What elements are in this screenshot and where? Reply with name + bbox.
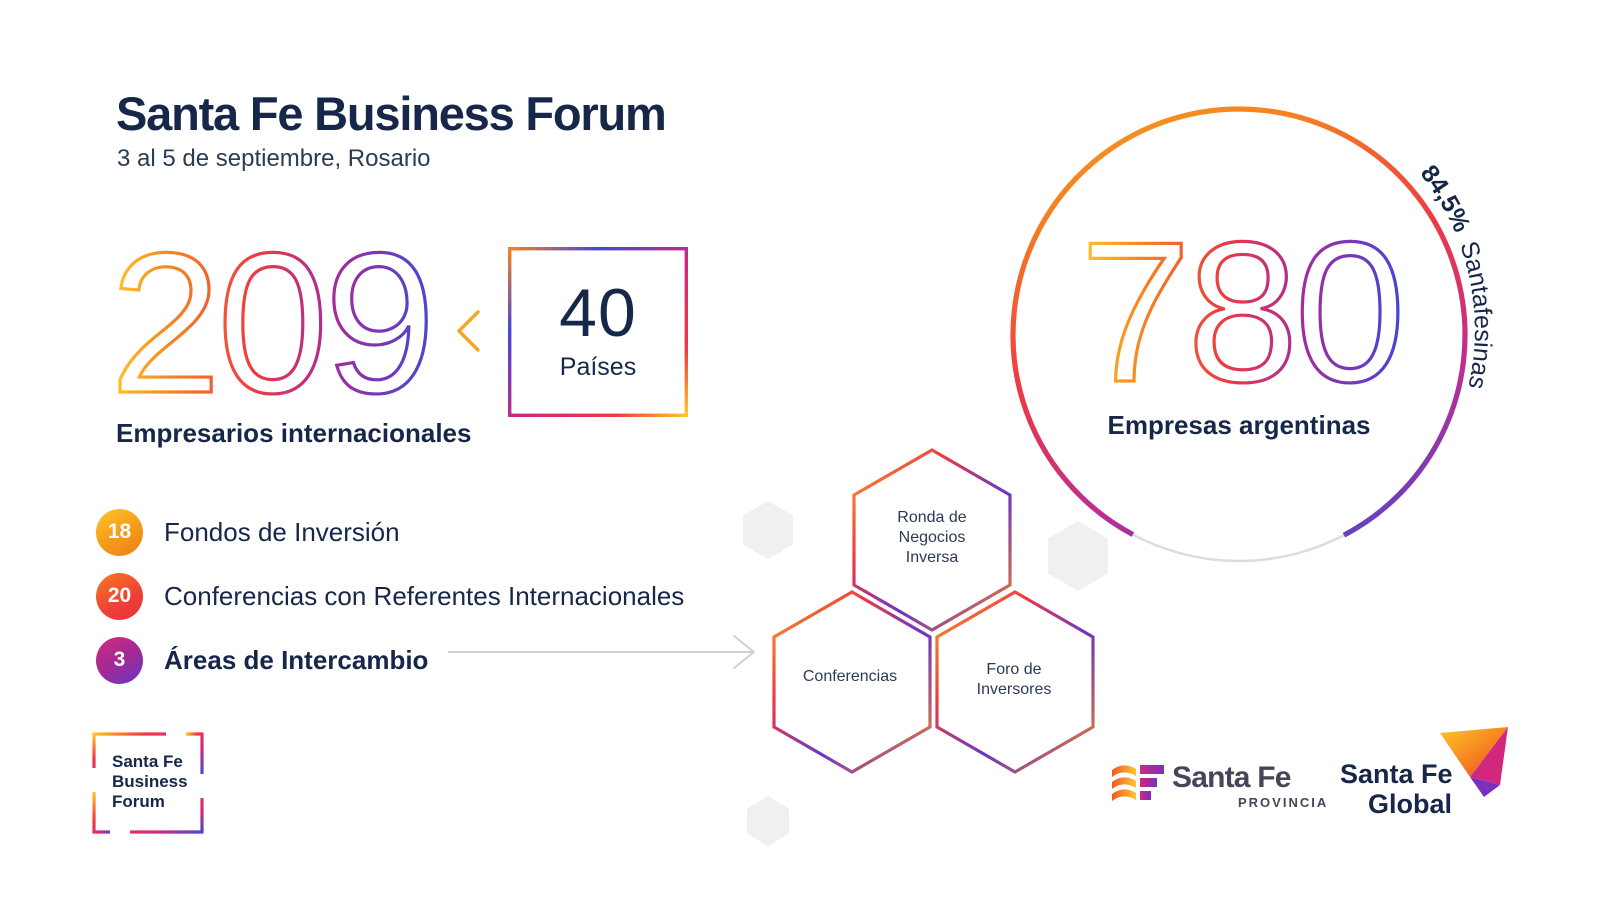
hexagon-foro-line1: Foro de	[944, 660, 1084, 680]
argentine-count-caption: Empresas argentinas	[1107, 410, 1370, 441]
arc-label-text: Santafesinas	[1454, 238, 1497, 392]
global-logo-line1: Santa Fe	[1340, 759, 1453, 789]
stat-label-fondos: Fondos de Inversión	[164, 517, 400, 548]
global-logo-text: Santa Fe Global	[1340, 759, 1453, 819]
logo-santa-fe-provincia: Santa Fe PROVINCIA	[1110, 755, 1300, 817]
hexagon-conferencias-line1: Conferencias	[780, 667, 920, 687]
stat-badge-18: 18	[96, 509, 143, 556]
page-subtitle: 3 al 5 de septiembre, Rosario	[117, 145, 431, 173]
hexagon-label-ronda: Ronda de Negocios Inversa	[862, 508, 1002, 568]
sfbf-logo-line2: Business	[112, 772, 188, 792]
countries-box: 40 Países	[508, 247, 688, 417]
stat-label-conferencias: Conferencias con Referentes Internaciona…	[164, 581, 684, 612]
argentine-count-glyphs: 780	[1074, 229, 1404, 404]
argentine-count-value: 780	[1080, 229, 1402, 404]
exchange-right-arrow-icon	[448, 632, 768, 672]
hexagon-ronda-line2: Negocios	[862, 528, 1002, 548]
svg-text:84,5% Santafesinas: 84,5% Santafesinas	[1415, 160, 1497, 392]
international-count-glyphs: 209	[110, 240, 440, 415]
stat-row-fondos[interactable]: 18 Fondos de Inversión	[96, 500, 796, 564]
hexagon-label-conferencias: Conferencias	[780, 667, 920, 687]
hexagon-foro-line2: Inversores	[944, 680, 1084, 700]
countries-label: Países	[560, 353, 636, 382]
logo-santa-fe-global: Santa Fe Global	[1340, 715, 1520, 820]
countries-value: 40	[559, 279, 637, 347]
stat-label-areas: Áreas de Intercambio	[164, 645, 428, 676]
global-logo-line2: Global	[1368, 789, 1453, 819]
provincia-mark-icon	[1110, 761, 1166, 813]
provincia-logo-sub: PROVINCIA	[1238, 795, 1328, 810]
sfbf-logo-line3: Forum	[112, 792, 188, 812]
page-title: Santa Fe Business Forum	[116, 86, 666, 141]
international-count-value: 209	[110, 240, 432, 415]
infographic-canvas: Santa Fe Business Forum 3 al 5 de septie…	[0, 0, 1600, 900]
stat-badge-20: 20	[96, 573, 143, 620]
international-count-caption: Empresarios internacionales	[116, 418, 471, 449]
international-count: 209	[110, 240, 440, 415]
sfbf-logo: Santa Fe Business Forum	[88, 728, 208, 838]
sfbf-logo-text: Santa Fe Business Forum	[112, 752, 188, 812]
donut-arc-label: 84,5% Santafesinas	[1390, 140, 1580, 520]
stat-row-conferencias[interactable]: 20 Conferencias con Referentes Internaci…	[96, 564, 796, 628]
hexagon-ronda-line3: Inversa	[862, 548, 1002, 568]
arc-label-percent: 84,5%	[1415, 160, 1476, 237]
provincia-logo-name: Santa Fe	[1172, 761, 1291, 795]
stat-badge-3: 3	[96, 637, 143, 684]
sfbf-logo-line1: Santa Fe	[112, 752, 188, 772]
hexagon-label-foro: Foro de Inversores	[944, 660, 1084, 700]
hexagon-ronda-line1: Ronda de	[862, 508, 1002, 528]
